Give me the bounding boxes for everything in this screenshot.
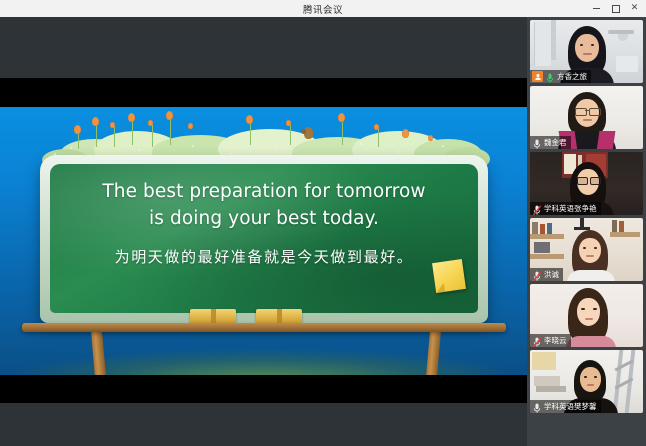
window-controls: ✕ xyxy=(587,0,644,17)
participant-name-4: 李晓云 xyxy=(544,335,567,346)
maximize-icon xyxy=(612,5,620,13)
participant-nameplate-4: 李晓云 xyxy=(530,334,571,347)
participant-tile-3[interactable]: 洪诚 xyxy=(530,218,643,281)
ground-glow xyxy=(11,349,517,375)
participant-tile-1[interactable]: 魏金君 xyxy=(530,86,643,149)
title-bar[interactable]: 腾讯会议 ✕ xyxy=(0,0,646,18)
microphone-icon-1 xyxy=(532,137,542,148)
close-button[interactable]: ✕ xyxy=(625,0,644,17)
participant-name-1: 魏金君 xyxy=(544,137,567,148)
participant-nameplate-0: 方香之旅 xyxy=(530,70,591,83)
host-badge-icon xyxy=(532,71,543,82)
blackboard-frame: The best preparation for tomorrow is doi… xyxy=(40,155,488,323)
microphone-icon-5 xyxy=(532,401,542,412)
book-left xyxy=(190,309,236,324)
blackboard-text: The best preparation for tomorrow is doi… xyxy=(50,178,478,268)
participant-name-0: 方香之旅 xyxy=(557,71,587,82)
participant-tile-4[interactable]: 李晓云 xyxy=(530,284,643,347)
participant-video-rail[interactable]: 方香之旅 xyxy=(527,17,646,446)
tencent-meeting-window: 腾讯会议 ✕ xyxy=(0,0,646,446)
quote-english-line-2: is doing your best today. xyxy=(50,205,478,232)
participant-name-3: 洪诚 xyxy=(544,269,559,280)
participant-nameplate-2: 学科英语张争艳 xyxy=(530,202,601,215)
participant-nameplate-1: 魏金君 xyxy=(530,136,571,149)
close-icon: ✕ xyxy=(631,4,639,13)
participant-name-5: 学科英语樊梦馨 xyxy=(544,401,597,412)
participant-tile-5[interactable]: 学科英语樊梦馨 xyxy=(530,350,643,413)
microphone-muted-icon-2 xyxy=(532,203,542,214)
book-right xyxy=(256,309,302,324)
sticky-note-icon xyxy=(432,259,466,293)
participant-tile-0[interactable]: 方香之旅 xyxy=(530,20,643,83)
window-title: 腾讯会议 xyxy=(303,2,343,16)
microphone-icon-0 xyxy=(545,71,555,82)
participant-name-2: 学科英语张争艳 xyxy=(544,203,597,214)
minimize-button[interactable] xyxy=(587,0,606,17)
shared-content-letterbox: The best preparation for tomorrow is doi… xyxy=(0,78,527,403)
microphone-muted-icon-4 xyxy=(532,335,542,346)
minimize-icon xyxy=(593,8,600,9)
participant-tile-2[interactable]: 学科英语张争艳 xyxy=(530,152,643,215)
bird-icon xyxy=(304,127,313,139)
participant-nameplate-3: 洪诚 xyxy=(530,268,563,281)
shared-screen-stage[interactable]: The best preparation for tomorrow is doi… xyxy=(0,17,527,429)
blackboard: The best preparation for tomorrow is doi… xyxy=(50,164,478,313)
maximize-button[interactable] xyxy=(606,0,625,17)
quote-chinese: 为明天做的最好准备就是今天做到最好。 xyxy=(50,246,478,268)
microphone-muted-icon-3 xyxy=(532,269,542,280)
wooden-shelf xyxy=(22,323,506,332)
presentation-slide: The best preparation for tomorrow is doi… xyxy=(0,107,527,375)
quote-english-line-1: The best preparation for tomorrow xyxy=(50,178,478,205)
participant-nameplate-5: 学科英语樊梦馨 xyxy=(530,400,601,413)
